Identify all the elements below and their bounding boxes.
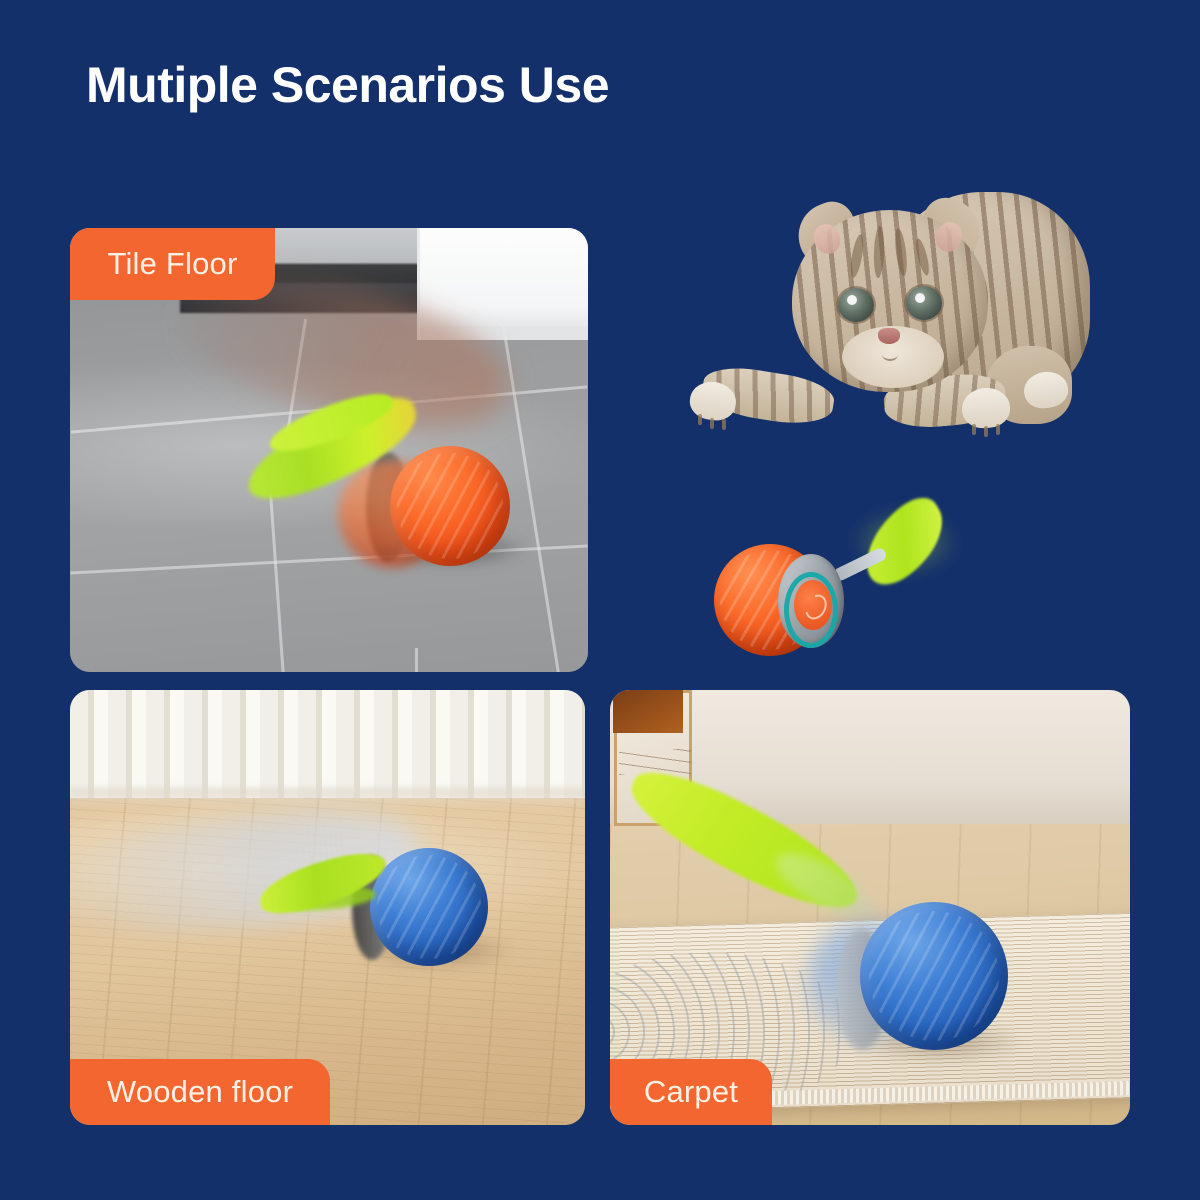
kitten-photo [686, 176, 1086, 476]
cat-nose [878, 328, 900, 344]
page-title: Mutiple Scenarios Use [86, 58, 609, 113]
badge-tile-floor: Tile Floor [70, 228, 275, 300]
cat-claw [984, 426, 988, 437]
badge-label: Wooden floor [107, 1074, 293, 1110]
badge-carpet: Carpet [610, 1059, 772, 1125]
cat-eye-right [906, 286, 942, 320]
badge-wooden-floor: Wooden floor [70, 1059, 330, 1125]
white-curtain [70, 690, 585, 798]
promo-banner: Mutiple Scenarios Use Tile Flo [0, 0, 1200, 1200]
badge-label: Carpet [644, 1074, 738, 1110]
cat-claw [698, 414, 702, 425]
toy-ball-blue [860, 902, 1008, 1050]
product-toy-ball [714, 520, 944, 660]
cat-mouth [882, 348, 898, 361]
scenario-panel-wooden-floor[interactable]: Wooden floor [70, 690, 585, 1125]
toy-ball-blue [370, 848, 488, 966]
toy-ball-orange [390, 446, 510, 566]
grout-line [415, 648, 418, 672]
cat-claw [972, 424, 976, 435]
cat-claw [996, 424, 1000, 435]
cat-eye-left [838, 288, 874, 322]
badge-label: Tile Floor [107, 246, 237, 282]
cat-claw [722, 419, 726, 430]
scenario-panel-carpet[interactable]: Carpet [610, 690, 1130, 1125]
ball-ribs [869, 911, 999, 1041]
ball-ribs [397, 453, 503, 559]
cat-claw [710, 418, 714, 429]
ball-ribs [377, 855, 481, 959]
scenario-panel-tile-floor[interactable]: Tile Floor [70, 228, 588, 672]
